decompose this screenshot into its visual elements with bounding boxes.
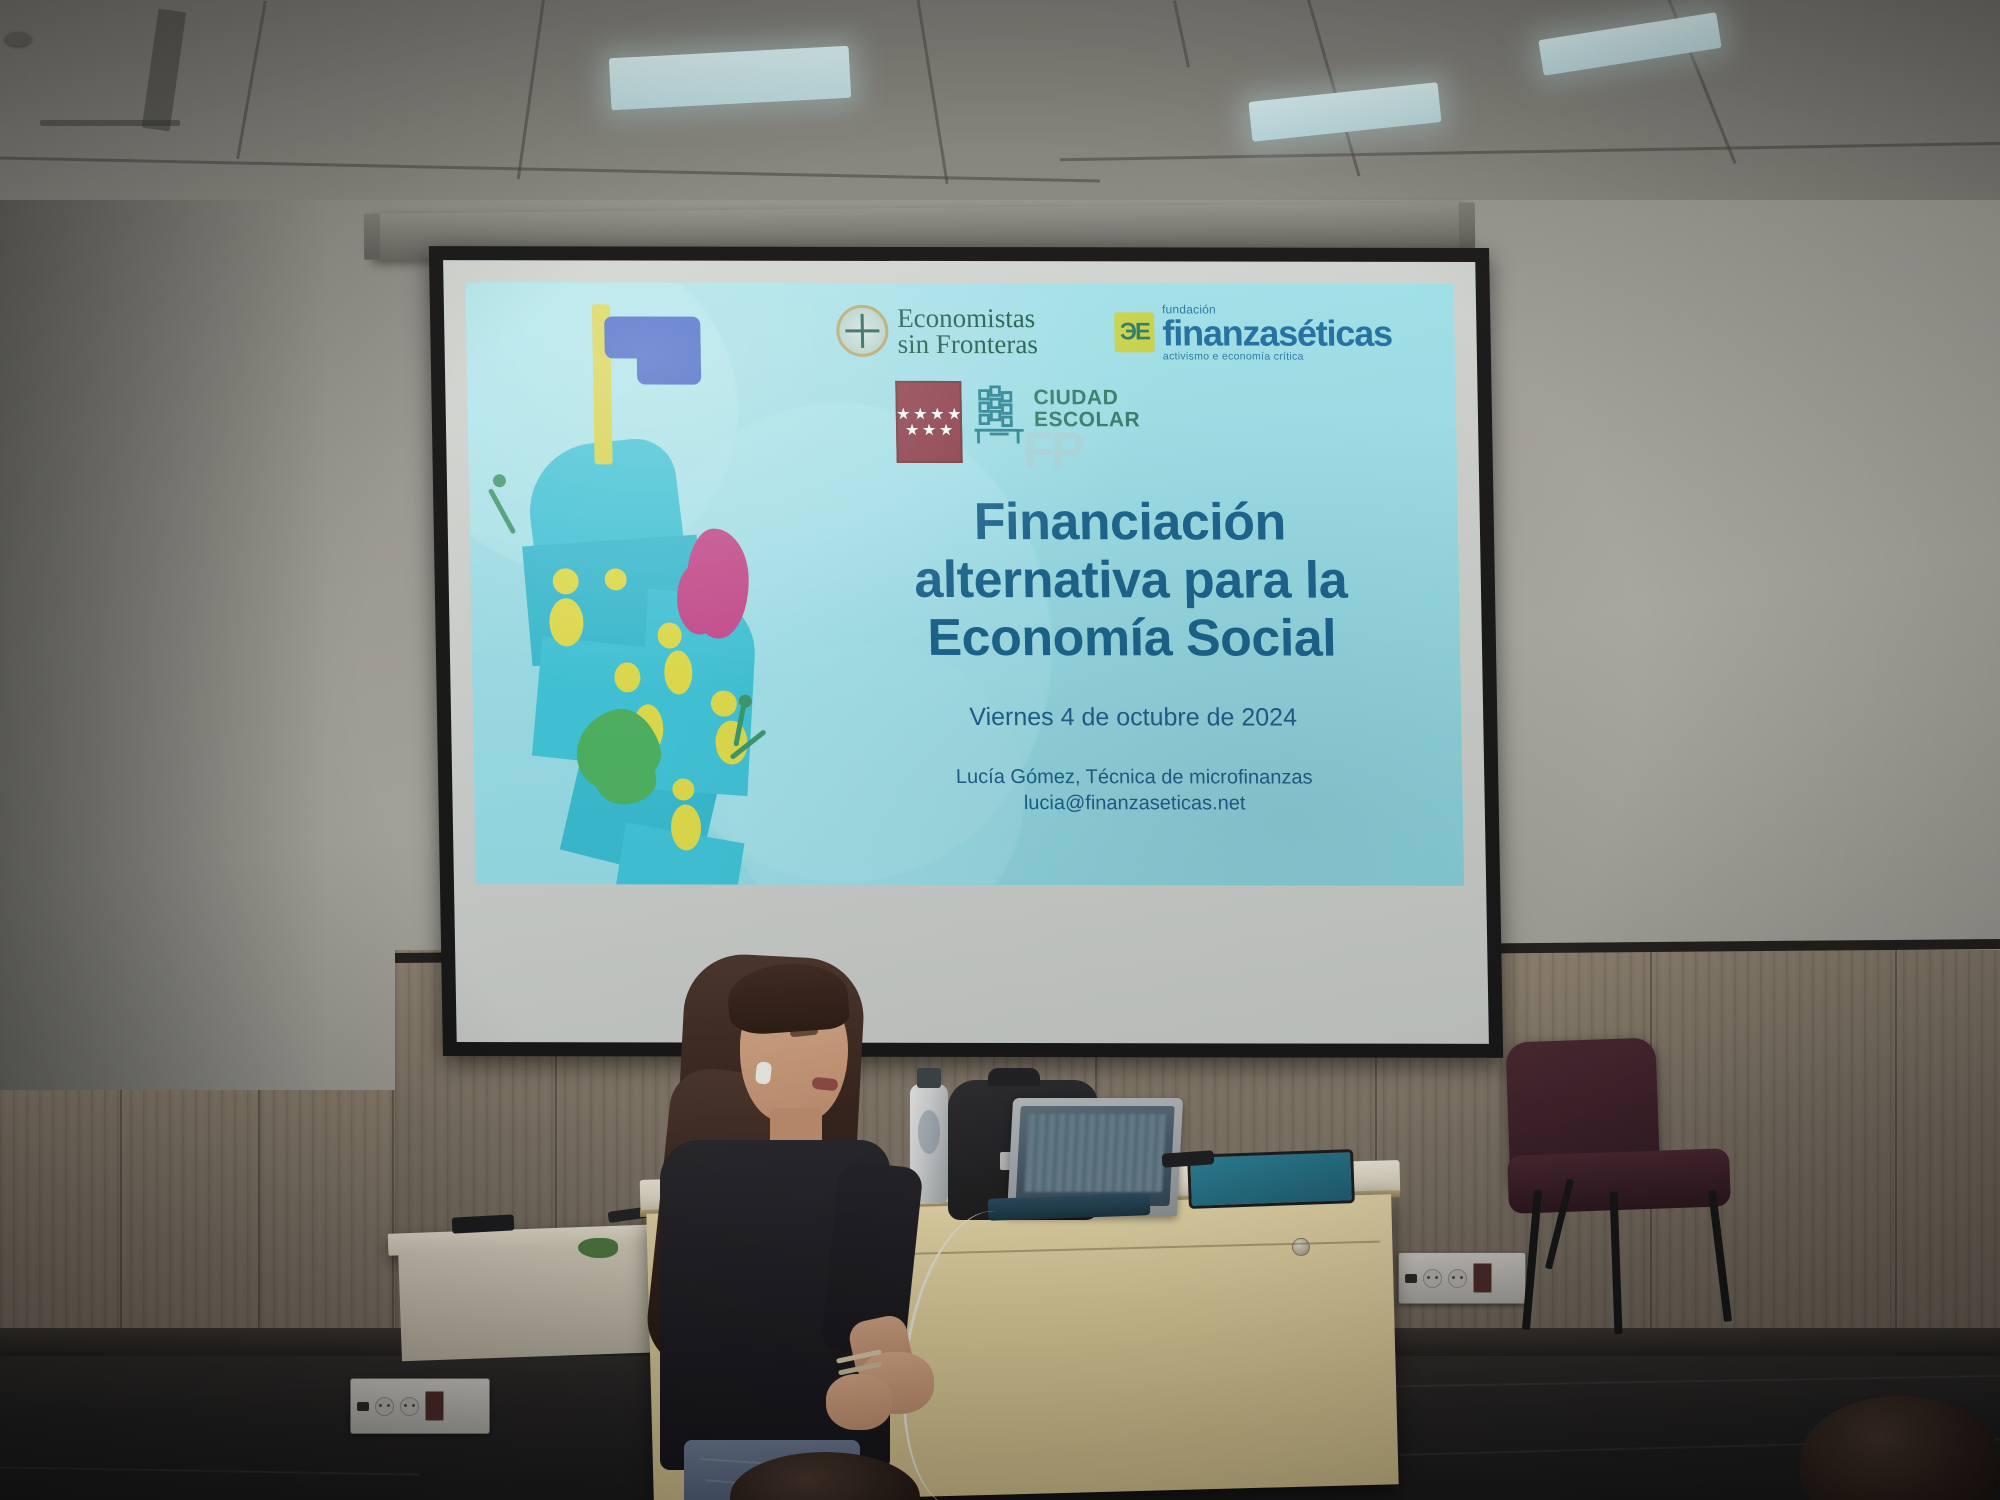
esf-emblem-icon	[836, 305, 889, 357]
wall-socket-right[interactable]	[1398, 1252, 1526, 1304]
green-object	[578, 1238, 618, 1258]
classroom-photo-scene: Economistas sin Fronteras ЭE fundación f…	[0, 0, 2000, 1500]
slide-author-block: Lucía Gómez, Técnica de microfinanzas lu…	[844, 765, 1425, 817]
slide-title-line-1: Financiación	[849, 493, 1410, 552]
ciudad-escolar-line-1: CIUDAD	[1033, 387, 1213, 409]
slide-title-line-3: Economía Social	[851, 609, 1412, 668]
socket-slot	[1405, 1274, 1417, 1283]
wall-highlight	[1450, 200, 2000, 980]
ceiling	[0, 0, 2000, 215]
finanzaseticas-wordmark: finanzaséticas	[1162, 315, 1392, 351]
smoke-detector	[5, 32, 31, 46]
esf-line-2: sin Fronteras	[897, 331, 1038, 358]
presenter	[640, 950, 1060, 1500]
presenter-earbud	[755, 1061, 772, 1084]
finanzaseticas-mark-icon: ЭE	[1114, 313, 1155, 353]
power-outlet	[375, 1397, 394, 1416]
madrid-flag-icon	[895, 381, 962, 463]
slide-title: Financiación alternativa para la Economí…	[849, 493, 1412, 669]
socket-switch[interactable]	[425, 1391, 444, 1421]
slide-illustration	[486, 292, 817, 886]
logo-economistas-sin-fronteras: Economistas sin Fronteras	[836, 305, 1038, 358]
socket-switch[interactable]	[1473, 1263, 1492, 1293]
power-outlet	[400, 1397, 419, 1416]
ceiling-light-panel	[609, 46, 851, 110]
presentation-slide: Economistas sin Fronteras ЭE fundación f…	[465, 282, 1464, 886]
slide-title-line-2: alternativa para la	[850, 551, 1411, 610]
logo-ciudad-escolar: FP	[973, 387, 1214, 457]
slide-author-email: lucia@finanzaseticas.net	[844, 790, 1425, 817]
smartphone[interactable]	[452, 1214, 515, 1233]
wall-socket-left[interactable]	[350, 1378, 490, 1434]
logo-comunidad-madrid: FP	[895, 381, 1214, 464]
ciudad-escolar-icon	[969, 383, 1028, 449]
slide-date: Viernes 4 de octubre de 2024	[853, 703, 1414, 733]
power-outlet	[1448, 1269, 1467, 1288]
socket-slot	[357, 1402, 369, 1411]
logo-fundacion-finanzaseticas: ЭE fundación finanzaséticas activismo e …	[1114, 303, 1392, 362]
power-outlet	[1423, 1269, 1442, 1288]
presenter-hand	[826, 1374, 892, 1430]
desk-knob[interactable]	[1292, 1238, 1310, 1256]
illustration-flag	[637, 340, 702, 384]
projection-screen-frame: Economistas sin Fronteras ЭE fundación f…	[429, 246, 1503, 1058]
slide-author-name: Lucía Gómez, Técnica de microfinanzas	[844, 765, 1425, 792]
fp-watermark: FP	[1022, 421, 1082, 481]
wall-shadow	[0, 200, 330, 1120]
esf-line-1: Economistas	[897, 305, 1038, 332]
projection-screen-surface: Economistas sin Fronteras ЭE fundación f…	[443, 260, 1489, 1044]
